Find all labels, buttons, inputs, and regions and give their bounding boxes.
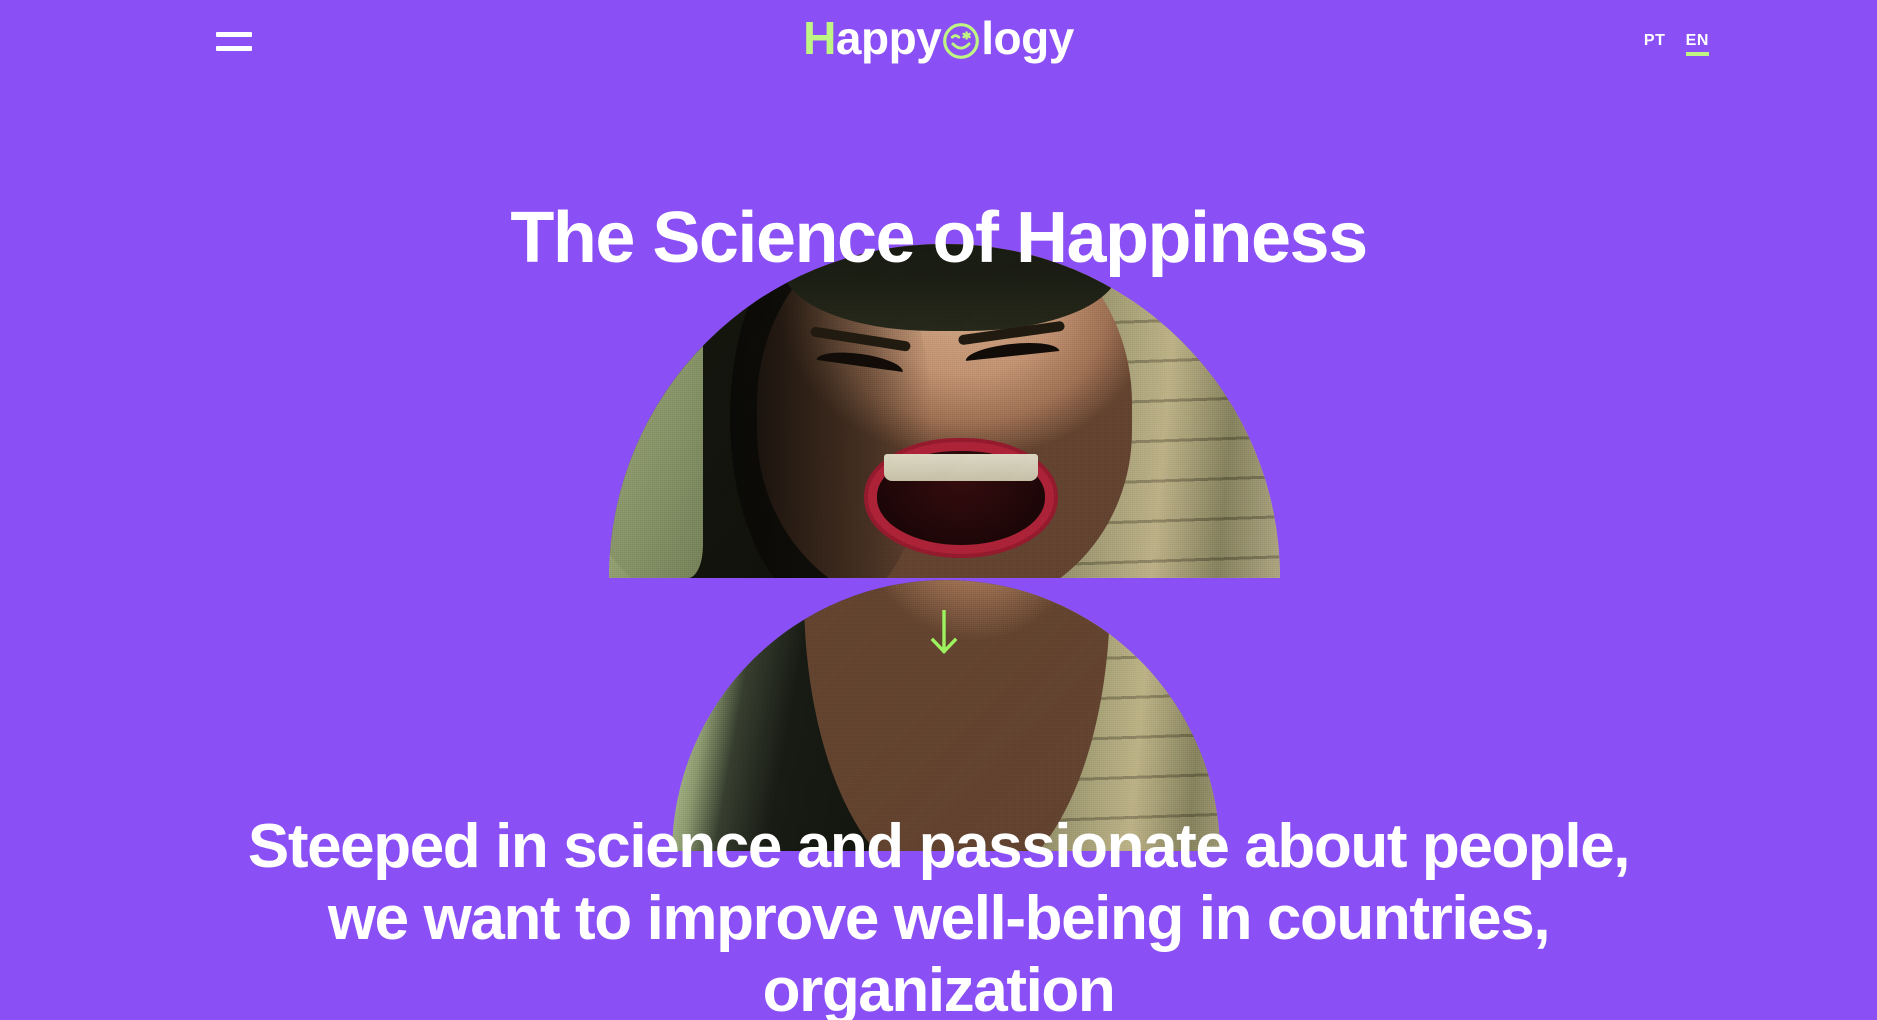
site-logo[interactable]: Happy logy [0,12,1877,64]
hero-section: The Science of Happiness [0,0,1877,1020]
intro-section: Steeped in science and passionate about … [0,851,1877,1020]
photo-woman-laughing [609,244,1280,578]
site-header: Happy logy PT EN [0,0,1877,80]
page-title: The Science of Happiness [0,198,1877,278]
smiley-wink-icon [942,18,980,56]
language-switcher: PT EN [1644,32,1709,56]
lang-option-en[interactable]: EN [1686,32,1709,56]
logo-letter-h: H [803,12,836,64]
lang-option-pt[interactable]: PT [1644,32,1666,56]
logo-text-appy: appy [836,12,941,64]
intro-paragraph: Steeped in science and passionate about … [0,811,1877,1020]
hero-photo-dome [609,244,1280,578]
arrow-down-icon[interactable] [930,610,958,654]
photo-film-grain [609,244,1280,578]
logo-text-logy: logy [981,12,1074,64]
